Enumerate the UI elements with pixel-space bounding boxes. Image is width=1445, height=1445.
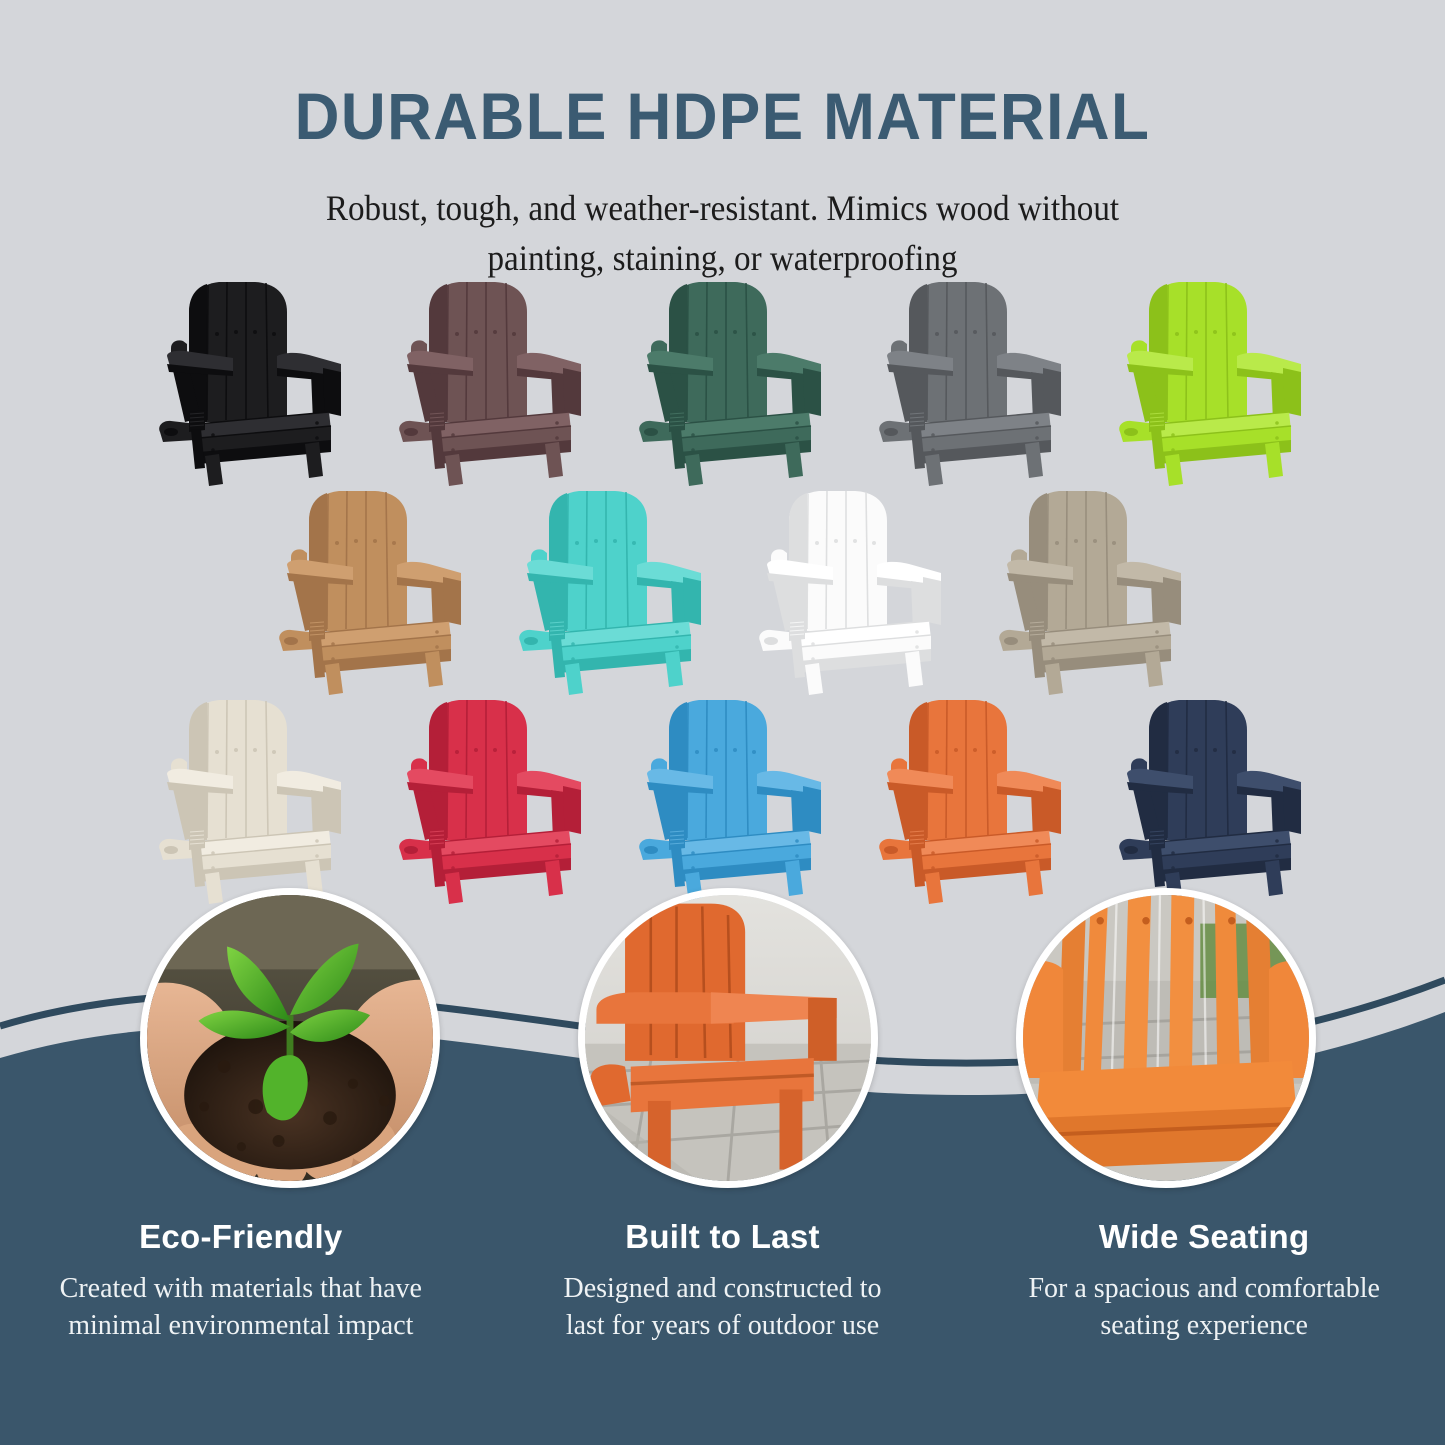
chair-hinge-plate xyxy=(429,410,445,432)
chair-back xyxy=(1029,491,1127,631)
chair-back xyxy=(1149,700,1247,840)
feature-photo-eco-friendly xyxy=(140,888,440,1188)
chair-svg xyxy=(127,690,359,905)
feature-desc-line-1: Created with materials that have xyxy=(22,1270,460,1307)
chair-back xyxy=(669,282,767,422)
chair-svg xyxy=(127,272,359,487)
chair-svg xyxy=(607,690,839,905)
chair-svg xyxy=(247,481,479,696)
subtitle-line-1: Robust, tough, and weather-resistant. Mi… xyxy=(58,184,1387,234)
chair-swatch-orange[interactable] xyxy=(847,690,1079,905)
chair-svg xyxy=(607,272,839,487)
chair-back xyxy=(909,282,1007,422)
feature-built-to-last: Built to Last Designed and constructed t… xyxy=(482,1218,964,1344)
feature-description: Created with materials that have minimal… xyxy=(22,1270,460,1344)
chair-svg xyxy=(487,481,719,696)
chair-swatch-white[interactable] xyxy=(727,481,959,696)
chair-svg xyxy=(727,481,959,696)
infographic-canvas: DURABLE HDPE MATERIAL Robust, tough, and… xyxy=(0,0,1445,1445)
chair-swatch-turquoise[interactable] xyxy=(487,481,719,696)
chair-swatch-dark-green[interactable] xyxy=(607,272,839,487)
chair-hinge-plate xyxy=(189,410,205,432)
feature-caption-row: Eco-Friendly Created with materials that… xyxy=(0,1218,1445,1344)
chair-hinge-plate xyxy=(1149,410,1165,432)
page-subtitle: Robust, tough, and weather-resistant. Mi… xyxy=(58,184,1387,283)
chair-back xyxy=(549,491,647,631)
feature-photo-wide-seating xyxy=(1016,888,1316,1188)
chair-svg xyxy=(1087,272,1319,487)
feature-desc-line-1: For a spacious and comfortable xyxy=(985,1270,1423,1307)
chair-swatch-weathered-gray[interactable] xyxy=(967,481,1199,696)
chair-hinge-plate xyxy=(1029,619,1045,641)
feature-eco-friendly: Eco-Friendly Created with materials that… xyxy=(0,1218,482,1344)
chair-hinge-plate xyxy=(309,619,325,641)
chair-row-2 xyxy=(0,481,1445,696)
chair-swatch-black[interactable] xyxy=(127,272,359,487)
feature-desc-line-2: last for years of outdoor use xyxy=(504,1307,942,1344)
feature-title: Eco-Friendly xyxy=(22,1218,460,1256)
feature-title: Wide Seating xyxy=(985,1218,1423,1256)
chair-back xyxy=(189,700,287,840)
feature-photo-row xyxy=(0,888,1445,1208)
feature-photo-built-to-last xyxy=(578,888,878,1188)
chair-back xyxy=(669,700,767,840)
feature-wide-seating: Wide Seating For a spacious and comforta… xyxy=(963,1218,1445,1344)
chair-back xyxy=(309,491,407,631)
chair-hinge-plate xyxy=(549,619,565,641)
chair-hinge-plate xyxy=(669,410,685,432)
chair-swatch-sky-blue[interactable] xyxy=(607,690,839,905)
photo-sleeve xyxy=(147,895,433,969)
chair-swatch-gray[interactable] xyxy=(847,272,1079,487)
chair-swatch-teak[interactable] xyxy=(247,481,479,696)
chair-row-3 xyxy=(0,690,1445,905)
chair-swatch-red[interactable] xyxy=(367,690,599,905)
chair-back xyxy=(429,700,527,840)
right-arm xyxy=(1269,961,1309,1078)
chair-svg xyxy=(367,272,599,487)
chair-hinge-plate xyxy=(1149,828,1165,850)
chair-back xyxy=(909,700,1007,840)
feature-description: For a spacious and comfortable seating e… xyxy=(985,1270,1423,1344)
chair-hinge-plate xyxy=(189,828,205,850)
page-title: DURABLE HDPE MATERIAL xyxy=(43,78,1401,154)
chair-back xyxy=(1149,282,1247,422)
chair-svg xyxy=(367,690,599,905)
chair-hinge-plate xyxy=(909,410,925,432)
chair-hinge-plate xyxy=(669,828,685,850)
feature-description: Designed and constructed to last for yea… xyxy=(504,1270,942,1344)
feature-title: Built to Last xyxy=(504,1218,942,1256)
chair-back xyxy=(429,282,527,422)
chair-hinge-plate xyxy=(909,828,925,850)
chair-swatch-brown[interactable] xyxy=(367,272,599,487)
chair-hinge-plate xyxy=(429,828,445,850)
chair-svg xyxy=(967,481,1199,696)
feature-desc-line-2: minimal environmental impact xyxy=(22,1307,460,1344)
chair-svg xyxy=(847,272,1079,487)
chair-swatch-lime-green[interactable] xyxy=(1087,272,1319,487)
feature-desc-line-1: Designed and constructed to xyxy=(504,1270,942,1307)
chair-swatch-navy[interactable] xyxy=(1087,690,1319,905)
left-arm xyxy=(1023,961,1063,1078)
header-block: DURABLE HDPE MATERIAL Robust, tough, and… xyxy=(0,0,1445,283)
chair-svg xyxy=(1087,690,1319,905)
chair-color-grid xyxy=(0,272,1445,905)
chair-row-1 xyxy=(0,272,1445,487)
chair-hinge-plate xyxy=(789,619,805,641)
feature-desc-line-2: seating experience xyxy=(985,1307,1423,1344)
chair-back xyxy=(789,491,887,631)
chair-back xyxy=(189,282,287,422)
chair-swatch-ivory[interactable] xyxy=(127,690,359,905)
chair-svg xyxy=(847,690,1079,905)
